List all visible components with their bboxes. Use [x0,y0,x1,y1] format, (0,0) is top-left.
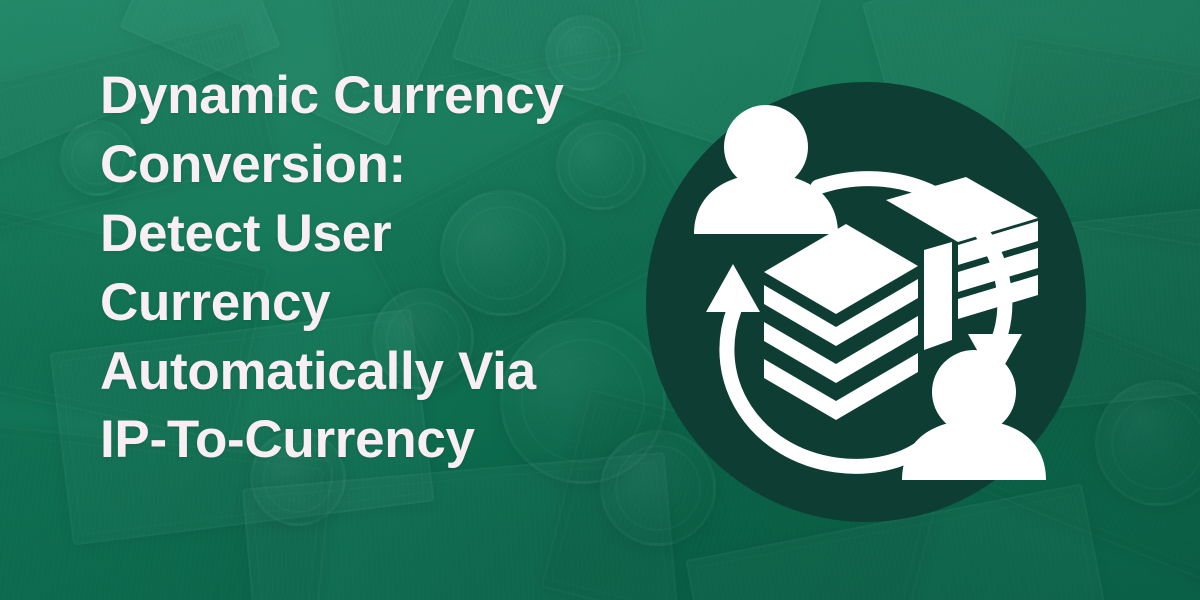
money-transfer-icon-badge [646,82,1086,522]
page-title: Dynamic Currency Conversion: Detect User… [100,62,670,475]
person-top-left-icon [694,105,838,234]
arrow-head-up-icon [706,264,760,312]
currency-conversion-banner: Dynamic Currency Conversion: Detect User… [0,0,1200,600]
coin [1095,380,1200,506]
person-bottom-right-icon [902,350,1046,480]
